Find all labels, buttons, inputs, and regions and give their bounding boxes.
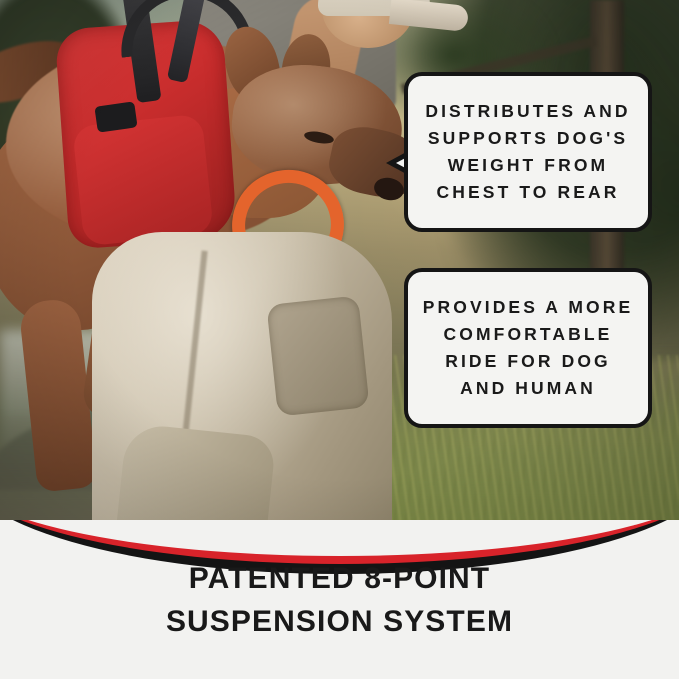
pants-cargo-pocket	[266, 295, 369, 416]
banner-headline: PATENTED 8-POINT SUSPENSION SYSTEM	[0, 558, 679, 643]
harness-buckle	[94, 101, 137, 132]
product-feature-image: DISTRIBUTES AND SUPPORTS DOG'S WEIGHT FR…	[0, 0, 679, 679]
banner-headline-line-2: SUSPENSION SYSTEM	[0, 601, 679, 644]
banner-headline-line-1: PATENTED 8-POINT	[0, 558, 679, 601]
callout-2-text: PROVIDES A MORE COMFORTABLE RIDE FOR DOG…	[422, 294, 634, 403]
photo-scene: DISTRIBUTES AND SUPPORTS DOG'S WEIGHT FR…	[0, 0, 679, 545]
bottom-banner: PATENTED 8-POINT SUSPENSION SYSTEM	[0, 520, 679, 679]
callout-bubble-2: PROVIDES A MORE COMFORTABLE RIDE FOR DOG…	[404, 268, 652, 428]
dog-harness-panel	[72, 114, 214, 247]
callout-1-text: DISTRIBUTES AND SUPPORTS DOG'S WEIGHT FR…	[422, 98, 634, 207]
callout-bubble-1: DISTRIBUTES AND SUPPORTS DOG'S WEIGHT FR…	[404, 72, 652, 232]
